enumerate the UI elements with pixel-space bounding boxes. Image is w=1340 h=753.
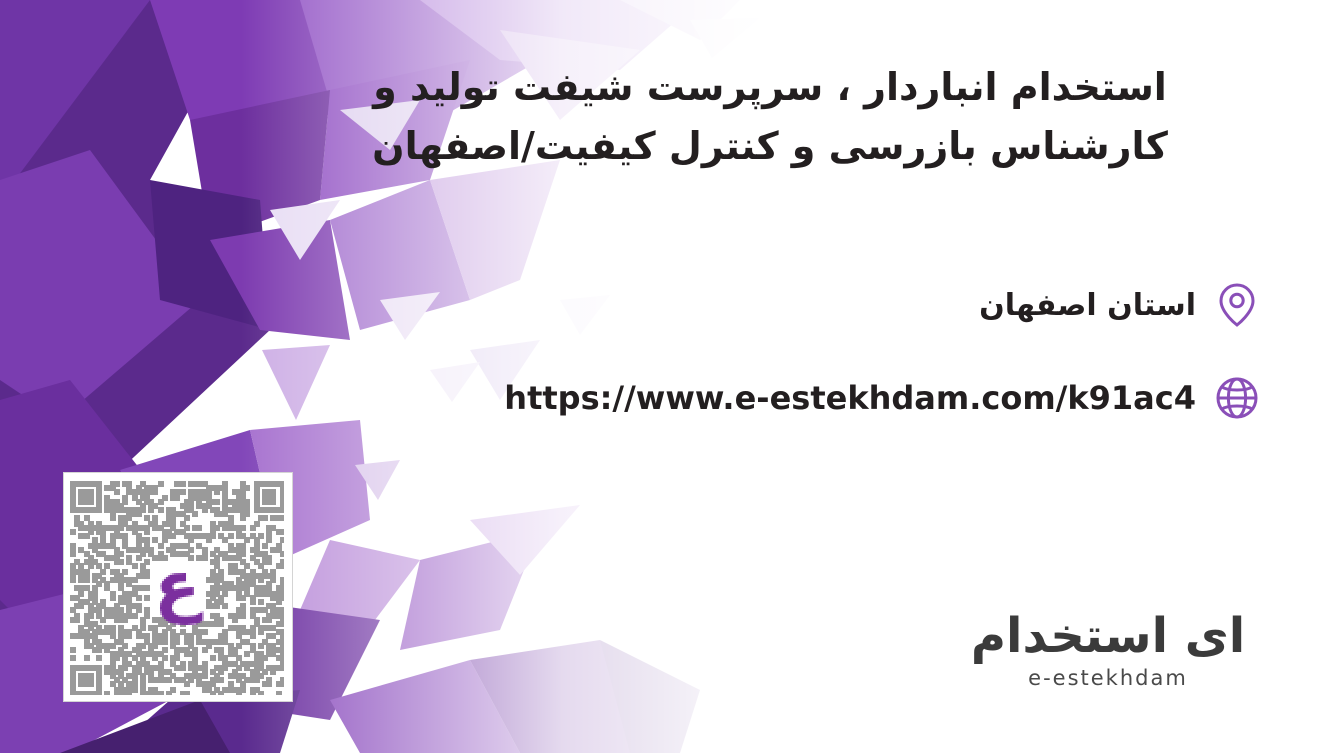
- brand-name-fa: ای استخدام: [971, 612, 1245, 660]
- location-text: استان اصفهان: [979, 288, 1196, 323]
- brand-name-en: e-estekhdam: [948, 666, 1268, 690]
- qr-code-canvas: [70, 481, 284, 695]
- share-card: استخدام انباردار ، سرپرست شیفت تولید و ک…: [0, 0, 1340, 753]
- location-row: استان اصفهان: [78, 282, 1260, 328]
- website-url[interactable]: https://www.e-estekhdam.com/k91ac4: [504, 379, 1196, 417]
- brand-logo: ای استخدام e-estekhdam: [948, 612, 1268, 690]
- qr-code[interactable]: [63, 472, 293, 702]
- brand-mark: ای استخدام: [948, 612, 1268, 660]
- page-title: استخدام انباردار ، سرپرست شیفت تولید و ک…: [280, 58, 1260, 176]
- globe-icon: [1214, 375, 1260, 421]
- website-row[interactable]: https://www.e-estekhdam.com/k91ac4: [78, 375, 1260, 421]
- location-pin-icon: [1214, 282, 1260, 328]
